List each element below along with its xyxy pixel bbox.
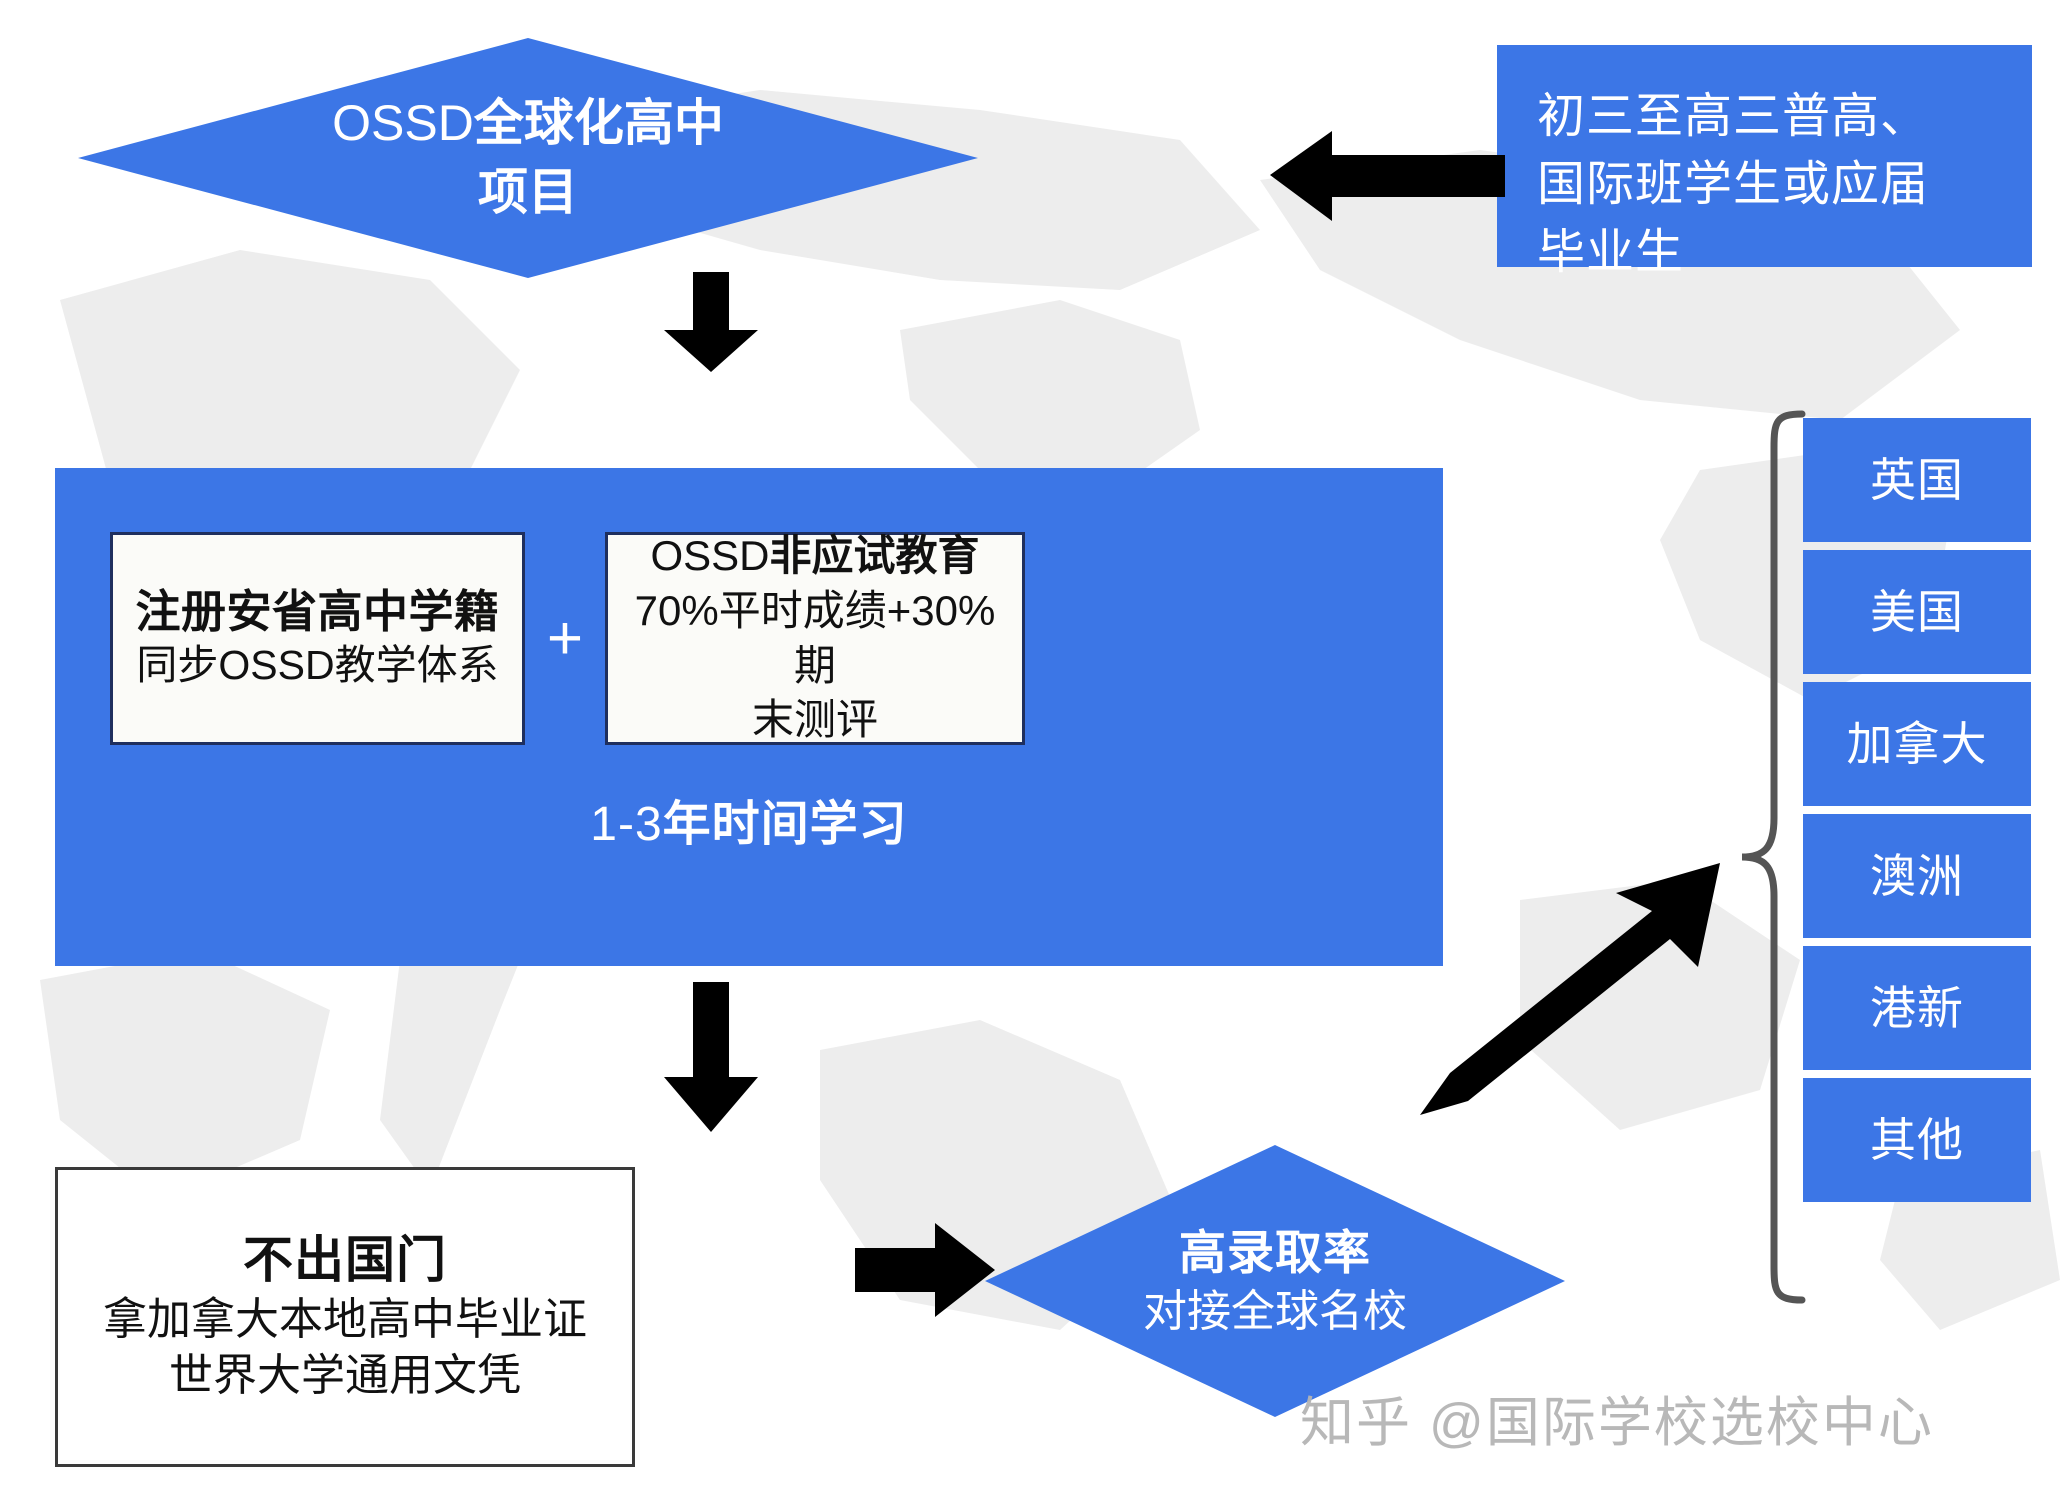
outcome-headline: 不出国门 — [243, 1229, 447, 1292]
entry-line-1: 初三至高三普高、 — [1537, 83, 1992, 151]
entry-criteria-box: 初三至高三普高、 国际班学生或应届 毕业生 — [1497, 45, 2032, 267]
arrow-entry-to-program-icon — [1270, 123, 1505, 228]
admission-subline: 对接全球名校 — [1143, 1283, 1407, 1340]
diagram-canvas: OSSD全球化高中 项目 初三至高三普高、 国际班学生或应届 毕业生 注册安省高… — [0, 0, 2072, 1500]
destination-brace-icon — [1738, 408, 1810, 1306]
admission-headline: 高录取率 — [1143, 1222, 1407, 1283]
registration-card-subtitle: 同步OSSD教学体系 — [136, 640, 498, 691]
program-title-line2: 项目 — [332, 158, 724, 227]
entry-line-2: 国际班学生或应届 — [1537, 151, 1992, 219]
admission-diamond: 高录取率 对接全球名校 — [985, 1145, 1565, 1417]
duration-label: 1-3年时间学习 — [55, 784, 1443, 854]
outcome-line-2: 拿加拿大本地高中毕业证 — [103, 1292, 587, 1348]
destination-item-4[interactable]: 港新 — [1803, 946, 2031, 1070]
arrow-core-to-outcome-icon — [646, 982, 776, 1132]
watermark: 知乎 @国际学校选校中心 — [1300, 1378, 1934, 1457]
plus-sign: + — [535, 608, 595, 670]
outcome-line-3: 世界大学通用文凭 — [169, 1348, 521, 1404]
destination-item-0[interactable]: 英国 — [1803, 418, 2031, 542]
entry-line-3: 毕业生 — [1537, 219, 1992, 287]
program-diamond: OSSD全球化高中 项目 — [78, 38, 978, 278]
destination-item-2[interactable]: 加拿大 — [1803, 682, 2031, 806]
destination-item-1[interactable]: 美国 — [1803, 550, 2031, 674]
assessment-card-detail-2: 末测评 — [752, 693, 878, 748]
core-program-panel: 注册安省高中学籍 同步OSSD教学体系 + OSSD非应试教育 70%平时成绩+… — [55, 468, 1443, 966]
outcome-box: 不出国门 拿加拿大本地高中毕业证 世界大学通用文凭 — [55, 1167, 635, 1467]
registration-card-title: 注册安省高中学籍 — [135, 585, 499, 640]
program-title-line1: OSSD全球化高中 — [332, 89, 724, 158]
destination-item-3[interactable]: 澳洲 — [1803, 814, 2031, 938]
registration-card: 注册安省高中学籍 同步OSSD教学体系 — [110, 532, 525, 745]
arrow-program-to-core-icon — [646, 272, 776, 372]
arrow-admission-to-destinations-icon — [1420, 815, 1740, 1115]
assessment-card-title: OSSD非应试教育 — [650, 529, 979, 584]
assessment-card-detail-1: 70%平时成绩+30%期 — [622, 584, 1008, 693]
assessment-card: OSSD非应试教育 70%平时成绩+30%期 末测评 — [605, 532, 1025, 745]
destination-list: 英国 美国 加拿大 澳洲 港新 其他 — [1803, 418, 2031, 1202]
destination-item-5[interactable]: 其他 — [1803, 1078, 2031, 1202]
arrow-outcome-to-admission-icon — [855, 1215, 995, 1325]
